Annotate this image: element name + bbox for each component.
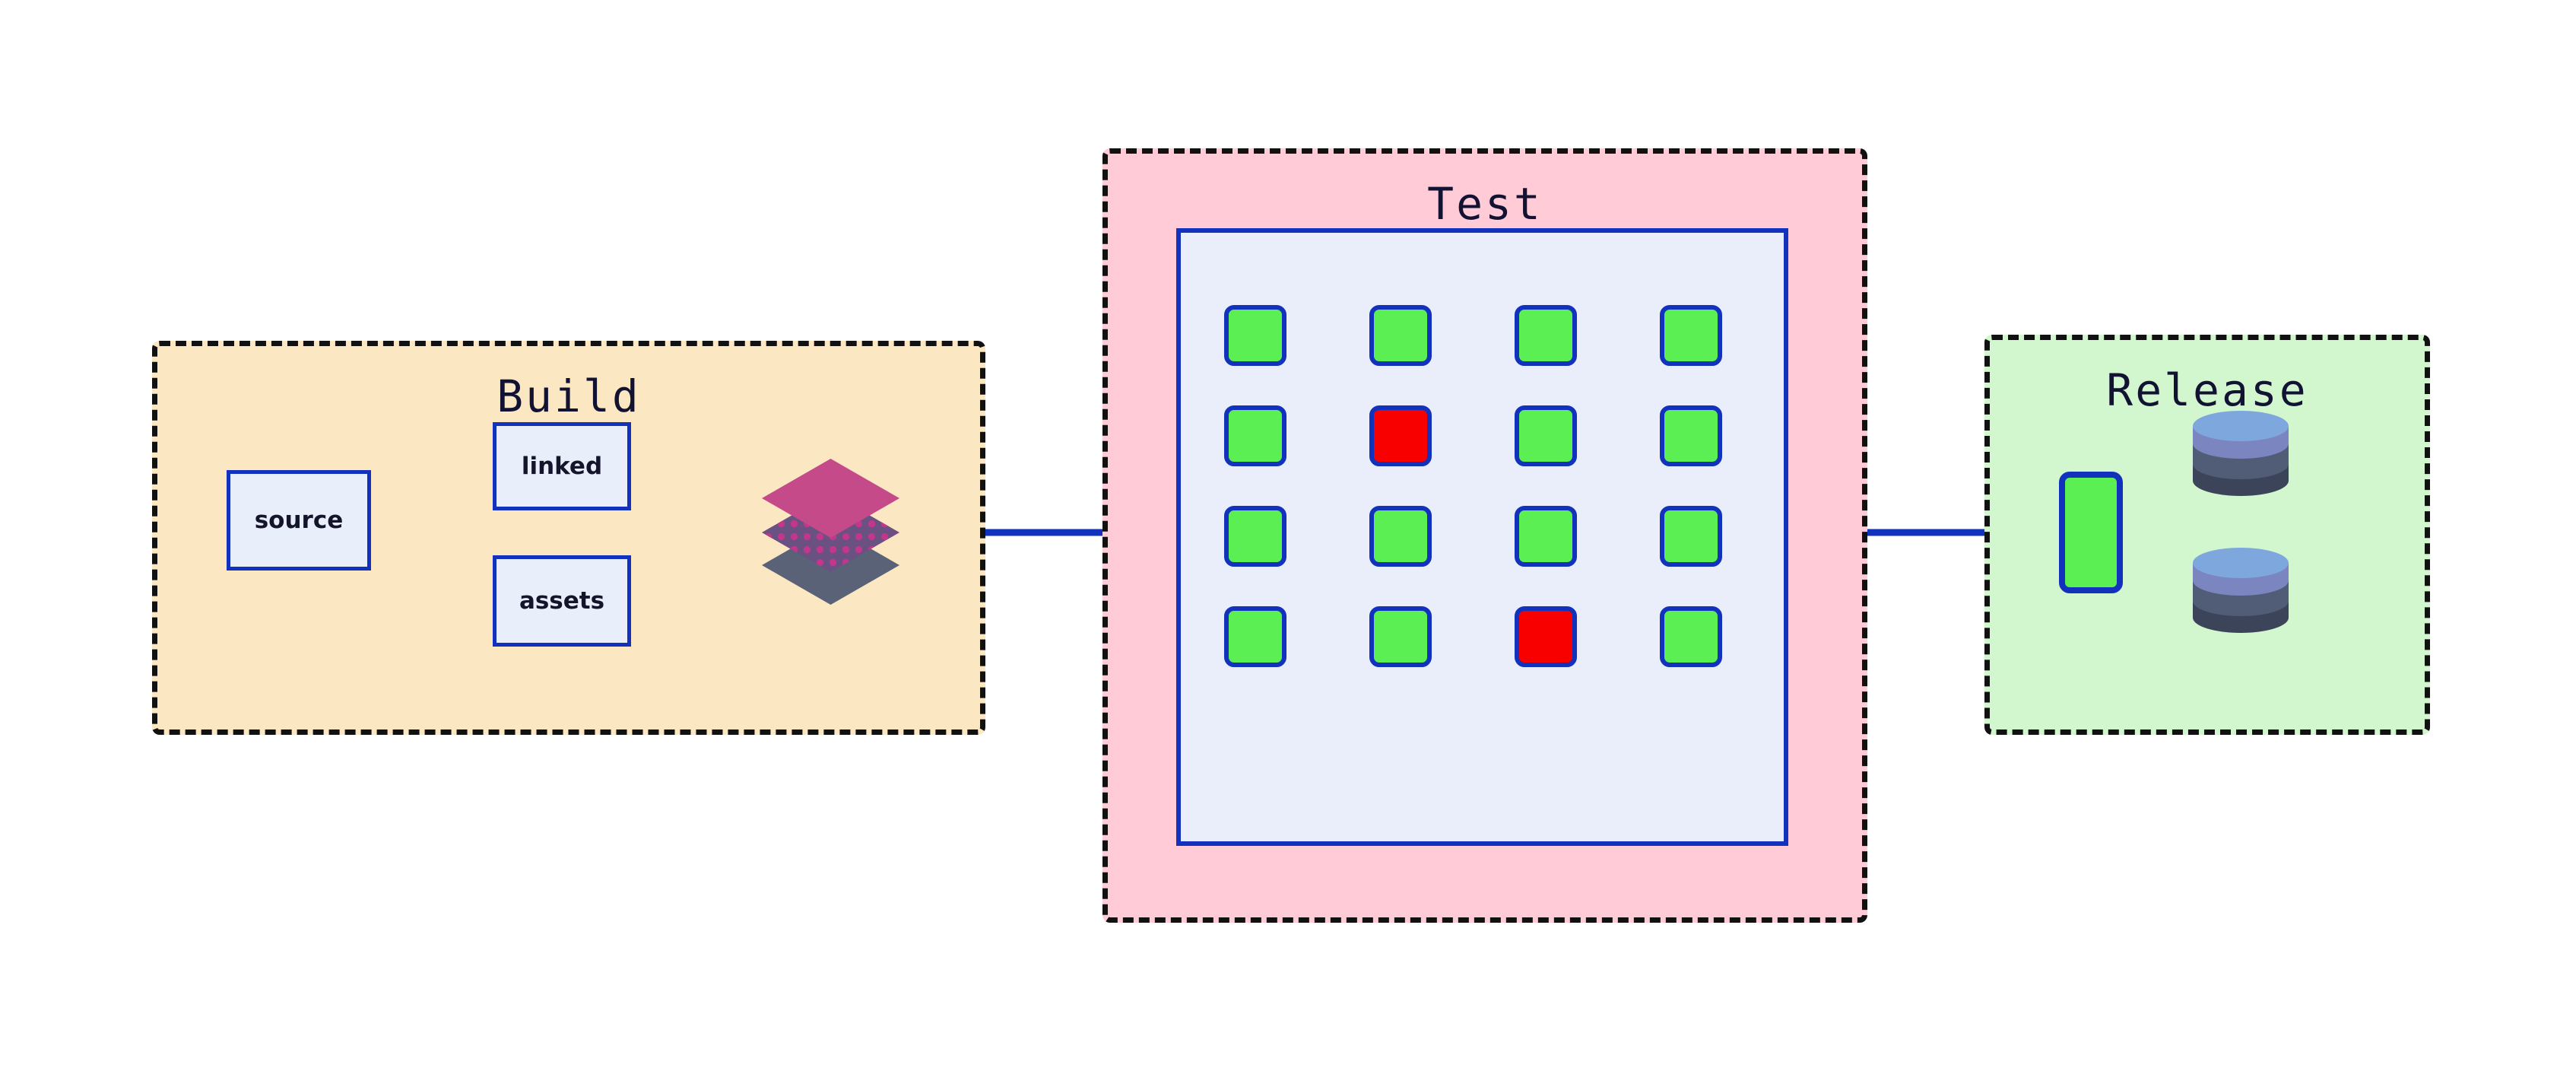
node-assets-label: assets xyxy=(519,587,604,615)
test-cell-pass[interactable] xyxy=(1515,405,1577,466)
test-cell-pass[interactable] xyxy=(1369,606,1432,667)
test-cell-pass[interactable] xyxy=(1224,606,1286,667)
database-icon[interactable] xyxy=(2190,409,2292,497)
layers-stack-icon[interactable] xyxy=(749,453,912,609)
node-assets[interactable]: assets xyxy=(493,555,631,647)
test-cell-pass[interactable] xyxy=(1224,305,1286,366)
stage-release[interactable]: Release xyxy=(1984,335,2430,735)
test-cell-pass[interactable] xyxy=(1224,405,1286,466)
node-source-label: source xyxy=(255,507,344,534)
diagram-canvas: Build source linked assets Test xyxy=(0,0,2576,1068)
test-cell-pass[interactable] xyxy=(1369,305,1432,366)
node-source[interactable]: source xyxy=(227,470,371,571)
db-top-surface xyxy=(2193,548,2289,578)
stage-build-title: Build xyxy=(157,370,980,422)
test-cell-fail[interactable] xyxy=(1515,606,1577,667)
test-results-grid xyxy=(1224,305,1749,667)
test-cell-pass[interactable] xyxy=(1515,305,1577,366)
test-cell-pass[interactable] xyxy=(1660,506,1722,567)
test-cell-pass[interactable] xyxy=(1660,606,1722,667)
test-results-panel[interactable] xyxy=(1176,228,1788,846)
release-artifact-bar[interactable] xyxy=(2059,472,2123,593)
test-cell-pass[interactable] xyxy=(1660,305,1722,366)
database-icon[interactable] xyxy=(2190,546,2292,634)
db-top-surface xyxy=(2193,411,2289,441)
node-linked-label: linked xyxy=(522,453,602,480)
test-cell-pass[interactable] xyxy=(1515,506,1577,567)
test-cell-pass[interactable] xyxy=(1369,506,1432,567)
test-cell-fail[interactable] xyxy=(1369,405,1432,466)
stage-test-title: Test xyxy=(1108,178,1862,230)
node-linked[interactable]: linked xyxy=(493,422,631,510)
stage-release-title: Release xyxy=(1990,364,2425,416)
test-cell-pass[interactable] xyxy=(1660,405,1722,466)
test-cell-pass[interactable] xyxy=(1224,506,1286,567)
